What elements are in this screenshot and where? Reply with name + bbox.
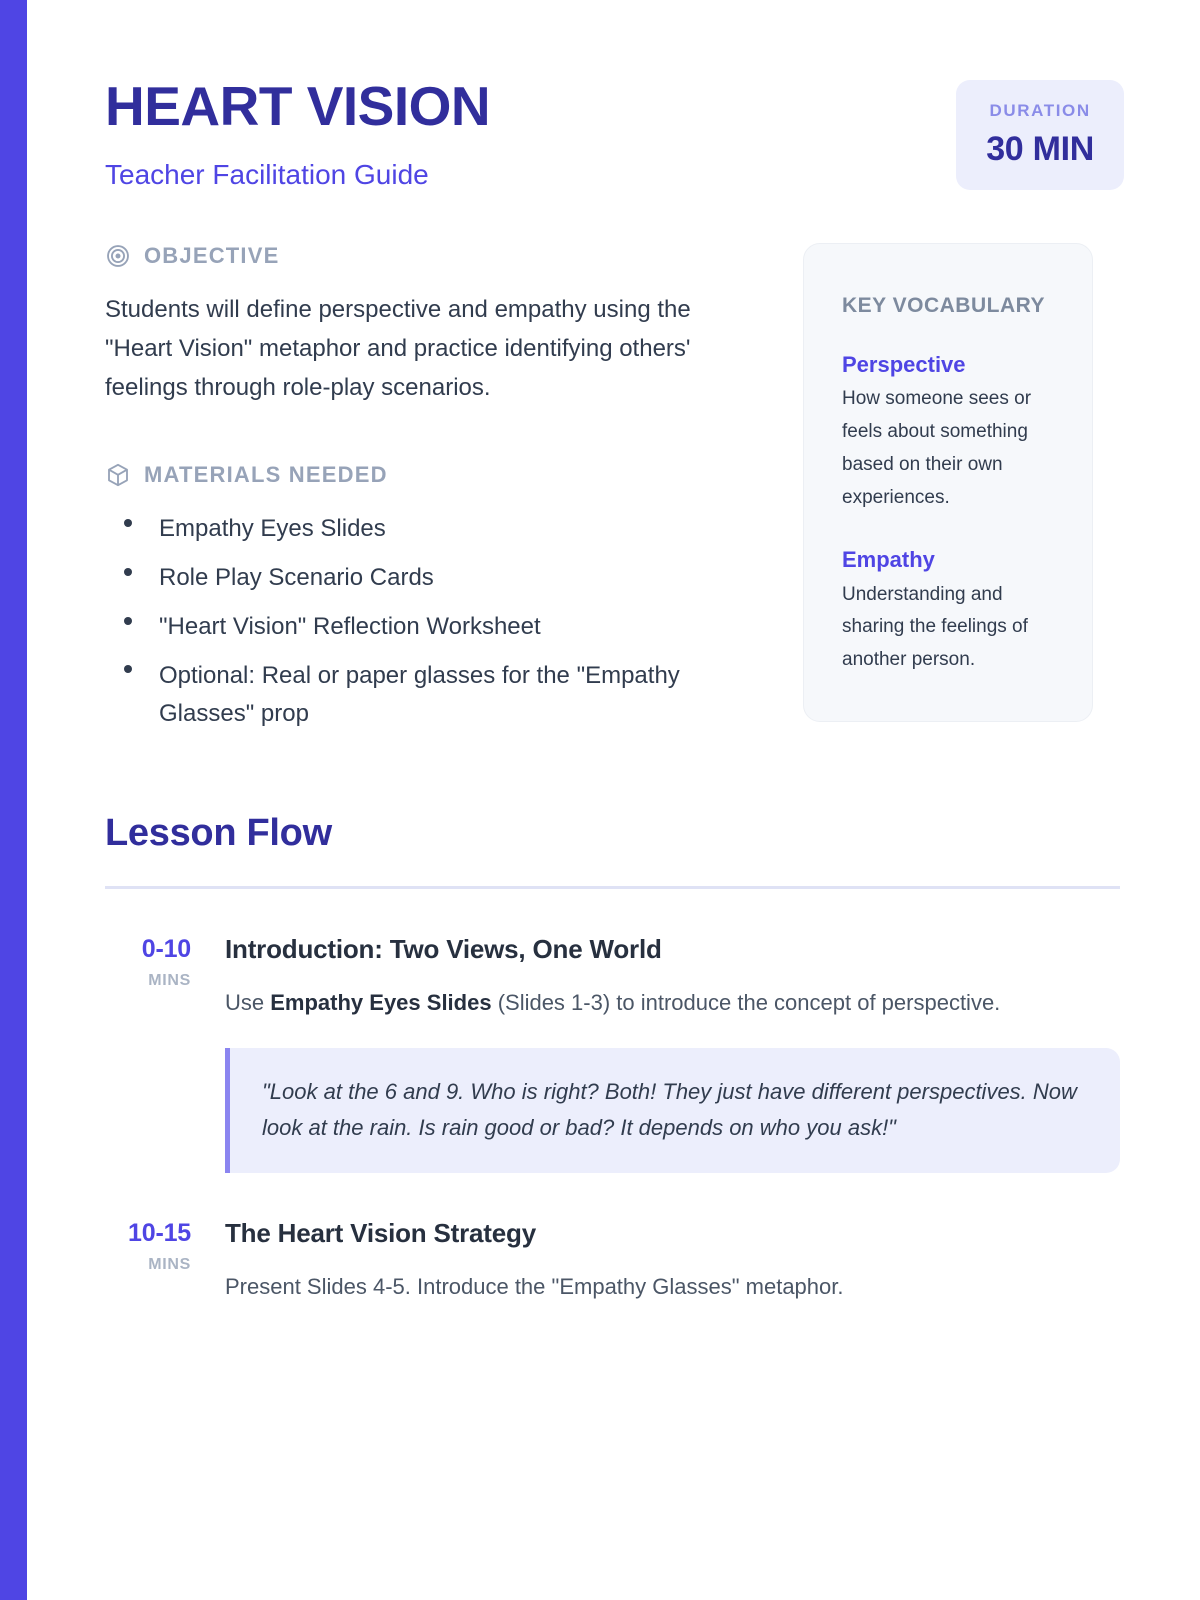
timeline-unit: MINS <box>105 972 191 990</box>
box-icon <box>105 462 131 488</box>
description-pre: Present Slides 4-5. Introduce the "Empat… <box>225 1274 844 1299</box>
list-item: Role Play Scenario Cards <box>105 559 761 598</box>
timeline-range: 10-15 <box>105 1221 191 1246</box>
materials-section-header: MATERIALS NEEDED <box>105 462 761 488</box>
lesson-flow-timeline: 0-10 MINS Introduction: Two Views, One W… <box>105 933 1120 1304</box>
description-emphasis: Empathy Eyes Slides <box>270 990 491 1015</box>
vocabulary-definition: Understanding and sharing the feelings o… <box>842 579 1058 677</box>
description-pre: Use <box>225 990 270 1015</box>
page-subtitle: Teacher Facilitation Guide <box>105 158 490 192</box>
timeline-heading: The Heart Vision Strategy <box>225 1217 1120 1250</box>
page-content: HEART VISION Teacher Facilitation Guide … <box>27 0 1200 1600</box>
header-titles: HEART VISION Teacher Facilitation Guide <box>105 62 490 191</box>
document-header: HEART VISION Teacher Facilitation Guide … <box>105 62 1120 191</box>
timeline-content: The Heart Vision Strategy Present Slides… <box>225 1217 1120 1304</box>
script-callout: "Look at the 6 and 9. Who is right? Both… <box>225 1048 1120 1173</box>
timeline-heading: Introduction: Two Views, One World <box>225 933 1120 966</box>
bullet-icon <box>105 510 159 549</box>
bullet-icon <box>105 559 159 598</box>
duration-value: 30 MIN <box>986 132 1094 166</box>
left-accent-bar <box>0 0 27 1600</box>
side-column: KEY VOCABULARY Perspective How someone s… <box>803 243 1093 721</box>
main-column: OBJECTIVE Students will define perspecti… <box>105 243 761 744</box>
material-label: Role Play Scenario Cards <box>159 564 434 591</box>
bullet-icon <box>105 608 159 647</box>
vocabulary-term: Perspective <box>842 351 1058 380</box>
timeline-unit: MINS <box>105 1256 191 1274</box>
material-label: "Heart Vision" Reflection Worksheet <box>159 613 541 640</box>
objective-section-header: OBJECTIVE <box>105 243 761 269</box>
objective-heading: OBJECTIVE <box>144 243 280 269</box>
materials-heading: MATERIALS NEEDED <box>144 462 388 488</box>
timeline-time: 10-15 MINS <box>105 1217 225 1274</box>
timeline-step: 0-10 MINS Introduction: Two Views, One W… <box>105 933 1120 1173</box>
timeline-content: Introduction: Two Views, One World Use E… <box>225 933 1120 1173</box>
script-quote: "Look at the 6 and 9. Who is right? Both… <box>262 1074 1086 1145</box>
materials-list: Empathy Eyes Slides Role Play Scenario C… <box>105 510 761 734</box>
timeline-step: 10-15 MINS The Heart Vision Strategy Pre… <box>105 1217 1120 1304</box>
objective-text: Students will define perspective and emp… <box>105 291 761 408</box>
vocabulary-entry: Empathy Understanding and sharing the fe… <box>842 546 1058 677</box>
vocabulary-definition: How someone sees or feels about somethin… <box>842 383 1058 514</box>
timeline-description: Use Empathy Eyes Slides (Slides 1-3) to … <box>225 985 1120 1020</box>
vocabulary-term: Empathy <box>842 546 1058 575</box>
body-grid: OBJECTIVE Students will define perspecti… <box>105 243 1120 744</box>
lesson-flow-title: Lesson Flow <box>105 812 1120 855</box>
list-item: Empathy Eyes Slides <box>105 510 761 549</box>
list-item: Optional: Real or paper glasses for the … <box>105 657 761 735</box>
key-vocabulary-card: KEY VOCABULARY Perspective How someone s… <box>803 243 1093 721</box>
page-title: HEART VISION <box>105 78 490 136</box>
timeline-time: 0-10 MINS <box>105 933 225 990</box>
timeline-description: Present Slides 4-5. Introduce the "Empat… <box>225 1269 1120 1304</box>
vocabulary-card-title: KEY VOCABULARY <box>842 290 1058 323</box>
material-label: Empathy Eyes Slides <box>159 515 386 542</box>
duration-label: DURATION <box>986 102 1094 119</box>
target-icon <box>105 243 131 269</box>
document-page: HEART VISION Teacher Facilitation Guide … <box>0 0 1200 1600</box>
description-post: (Slides 1-3) to introduce the concept of… <box>492 990 1001 1015</box>
vocabulary-entry: Perspective How someone sees or feels ab… <box>842 351 1058 514</box>
timeline-range: 0-10 <box>105 937 191 962</box>
section-divider <box>105 886 1120 889</box>
list-item: "Heart Vision" Reflection Worksheet <box>105 608 761 647</box>
material-label: Optional: Real or paper glasses for the … <box>159 662 680 728</box>
duration-badge: DURATION 30 MIN <box>956 80 1124 190</box>
bullet-icon <box>105 657 159 696</box>
